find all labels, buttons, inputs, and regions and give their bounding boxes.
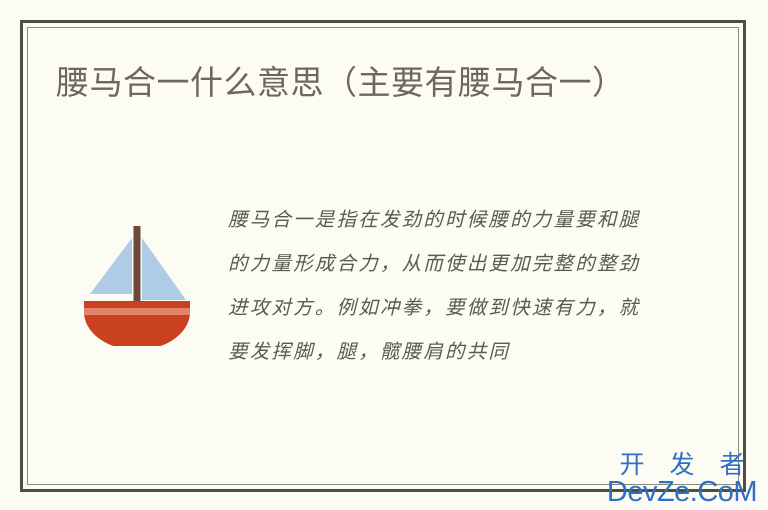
watermark-cn-text: 开 发 者	[598, 451, 766, 479]
watermark: 开 发 者 DevZe.CoM	[598, 451, 766, 508]
right-sail-shape	[142, 238, 186, 300]
sailboat-icon	[70, 212, 204, 346]
page-title: 腰马合一什么意思（主要有腰马合一）	[56, 58, 696, 108]
page-root: 腰马合一什么意思（主要有腰马合一） 腰马合一是指在发劲的时候腰的力量要和腿的力量…	[0, 0, 768, 510]
hull-shape	[84, 301, 190, 346]
article-body: 腰马合一是指在发劲的时候腰的力量要和腿的力量形成合力，从而使出更加完整的整劲进攻…	[228, 198, 642, 374]
sailboat-svg	[70, 212, 204, 346]
article-content: 腰马合一是指在发劲的时候腰的力量要和腿的力量形成合力，从而使出更加完整的整劲进攻…	[56, 196, 708, 470]
hull-stripe-shape	[84, 308, 190, 315]
left-sail-shape	[90, 238, 132, 294]
watermark-en-text: DevZe.CoM	[598, 477, 766, 508]
mast-shape	[134, 226, 141, 306]
